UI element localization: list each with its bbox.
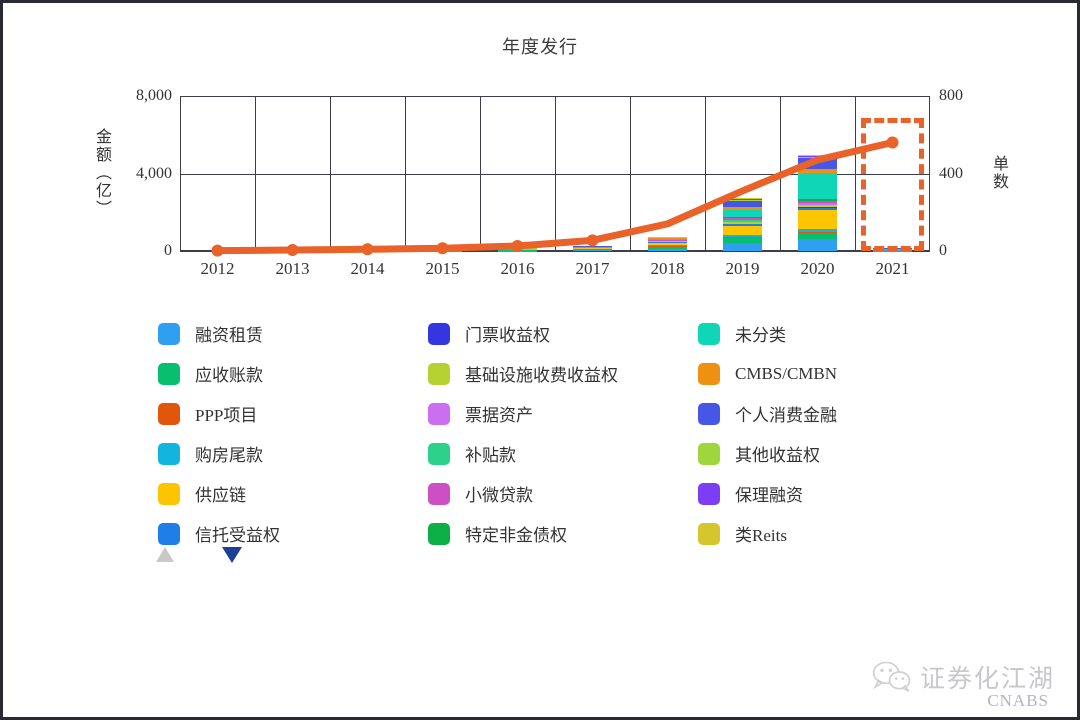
legend-item[interactable]: 供应链	[158, 481, 428, 506]
y-tick-label-left: 4,000	[136, 165, 180, 183]
gridline-vertical	[480, 96, 481, 251]
legend-swatch-icon	[428, 403, 450, 425]
y-tick-label-right: 800	[930, 87, 963, 105]
gridline-vertical	[555, 96, 556, 251]
gridline-vertical	[255, 96, 256, 251]
legend-item[interactable]: 小微贷款	[428, 481, 698, 506]
legend-item-label: 融资租赁	[195, 321, 263, 346]
bar-column[interactable]	[423, 250, 462, 251]
bar-column[interactable]	[798, 155, 837, 251]
legend-item[interactable]: 保理融资	[698, 481, 948, 506]
y-axis-title-left: 金额（亿）	[89, 128, 113, 218]
x-tick-label: 2012	[201, 259, 235, 279]
x-tick-label: 2018	[651, 259, 685, 279]
x-tick-label: 2020	[801, 259, 835, 279]
legend-item[interactable]: 门票收益权	[428, 321, 698, 346]
legend-item[interactable]: 应收账款	[158, 361, 428, 386]
legend-item[interactable]: 类Reits	[698, 521, 948, 546]
legend-swatch-icon	[158, 403, 180, 425]
legend-item-label: 票据资产	[465, 401, 533, 426]
legend-swatch-icon	[158, 443, 180, 465]
legend-item-label: 基础设施收费收益权	[465, 361, 618, 386]
x-tick-label: 2015	[426, 259, 460, 279]
watermark-subtext: CNABS	[987, 691, 1049, 711]
legend-swatch-icon	[428, 323, 450, 345]
legend-scroll-controls	[156, 543, 276, 567]
legend-swatch-icon	[158, 363, 180, 385]
gridline-vertical	[855, 96, 856, 251]
bar-segment[interactable]	[723, 226, 762, 235]
legend-swatch-icon	[158, 323, 180, 345]
legend-swatch-icon	[158, 523, 180, 545]
y-tick-label-right: 0	[930, 242, 947, 260]
legend-item-label: 未分类	[735, 321, 786, 346]
scroll-down-arrow-icon[interactable]	[222, 547, 242, 563]
legend-item[interactable]: 购房尾款	[158, 441, 428, 466]
legend-swatch-icon	[698, 323, 720, 345]
gridline-horizontal	[180, 251, 930, 252]
legend-item-label: 小微贷款	[465, 481, 533, 506]
bar-segment[interactable]	[798, 173, 837, 199]
legend-swatch-icon	[428, 523, 450, 545]
x-tick-label: 2016	[501, 259, 535, 279]
legend-item-label: 供应链	[195, 481, 246, 506]
legend-item-label: 其他收益权	[735, 441, 820, 466]
legend-item[interactable]: 个人消费金融	[698, 401, 948, 426]
legend-item[interactable]: 补贴款	[428, 441, 698, 466]
bar-segment[interactable]	[648, 249, 687, 251]
legend-swatch-icon	[428, 443, 450, 465]
legend-item[interactable]: 融资租赁	[158, 321, 428, 346]
legend-swatch-icon	[698, 523, 720, 545]
legend-item[interactable]: PPP项目	[158, 401, 428, 426]
legend-swatch-icon	[698, 363, 720, 385]
x-tick-label: 2021	[876, 259, 910, 279]
gridline-vertical	[705, 96, 706, 251]
legend-swatch-icon	[428, 483, 450, 505]
scroll-up-arrow-icon[interactable]	[156, 547, 174, 562]
bar-segment[interactable]	[798, 239, 837, 251]
legend-item-label: PPP项目	[195, 401, 257, 426]
y-tick-label-right: 400	[930, 165, 963, 183]
gridline-vertical	[330, 96, 331, 251]
y-tick-label-left: 0	[164, 242, 180, 260]
x-tick-label: 2014	[351, 259, 385, 279]
gridline-vertical	[780, 96, 781, 251]
bar-column[interactable]	[573, 246, 612, 251]
legend-swatch-icon	[698, 403, 720, 425]
legend-item[interactable]: 其他收益权	[698, 441, 948, 466]
legend-item[interactable]: 特定非金债权	[428, 521, 698, 546]
legend-item[interactable]: 基础设施收费收益权	[428, 361, 698, 386]
legend-item-label: 特定非金债权	[465, 521, 567, 546]
legend: 融资租赁门票收益权未分类应收账款基础设施收费收益权CMBS/CMBNPPP项目票…	[158, 321, 948, 546]
legend-item-label: CMBS/CMBN	[735, 364, 837, 384]
legend-item-label: 个人消费金融	[735, 401, 837, 426]
legend-item[interactable]: 票据资产	[428, 401, 698, 426]
x-tick-label: 2013	[276, 259, 310, 279]
legend-swatch-icon	[698, 443, 720, 465]
bar-column[interactable]	[723, 198, 762, 251]
x-tick-label: 2017	[576, 259, 610, 279]
bar-column[interactable]	[498, 248, 537, 251]
legend-item-label: 门票收益权	[465, 321, 550, 346]
gridline-vertical	[630, 96, 631, 251]
bar-segment[interactable]	[723, 243, 762, 251]
watermark-text: 证券化江湖	[920, 659, 1055, 695]
gridline-vertical	[405, 96, 406, 251]
legend-swatch-icon	[428, 363, 450, 385]
legend-item[interactable]: CMBS/CMBN	[698, 361, 948, 386]
chart-title: 年度发行	[3, 33, 1077, 59]
legend-item-label: 购房尾款	[195, 441, 263, 466]
legend-item-label: 应收账款	[195, 361, 263, 386]
legend-swatch-icon	[698, 483, 720, 505]
screenshot-frame: 年度发行 金额（亿） 单数 04,0008,000 0400800 201220…	[0, 0, 1080, 720]
bar-column[interactable]	[873, 248, 912, 251]
bar-column[interactable]	[348, 250, 387, 251]
y-axis-title-right: 单数	[986, 155, 1010, 191]
legend-item-label: 类Reits	[735, 521, 787, 546]
legend-swatch-icon	[158, 483, 180, 505]
bar-segment[interactable]	[573, 250, 612, 251]
legend-item-label: 补贴款	[465, 441, 516, 466]
bar-segment[interactable]	[798, 210, 837, 229]
y-tick-label-left: 8,000	[136, 87, 180, 105]
bar-segment[interactable]	[798, 158, 837, 168]
x-tick-label: 2019	[726, 259, 760, 279]
watermark: 证券化江湖	[872, 659, 1055, 695]
wechat-icon	[872, 660, 912, 694]
legend-item[interactable]: 未分类	[698, 321, 948, 346]
plot-wrapper: 04,0008,000 0400800 20122013201420152016…	[180, 96, 930, 251]
bar-column[interactable]	[648, 237, 687, 251]
legend-item-label: 保理融资	[735, 481, 803, 506]
